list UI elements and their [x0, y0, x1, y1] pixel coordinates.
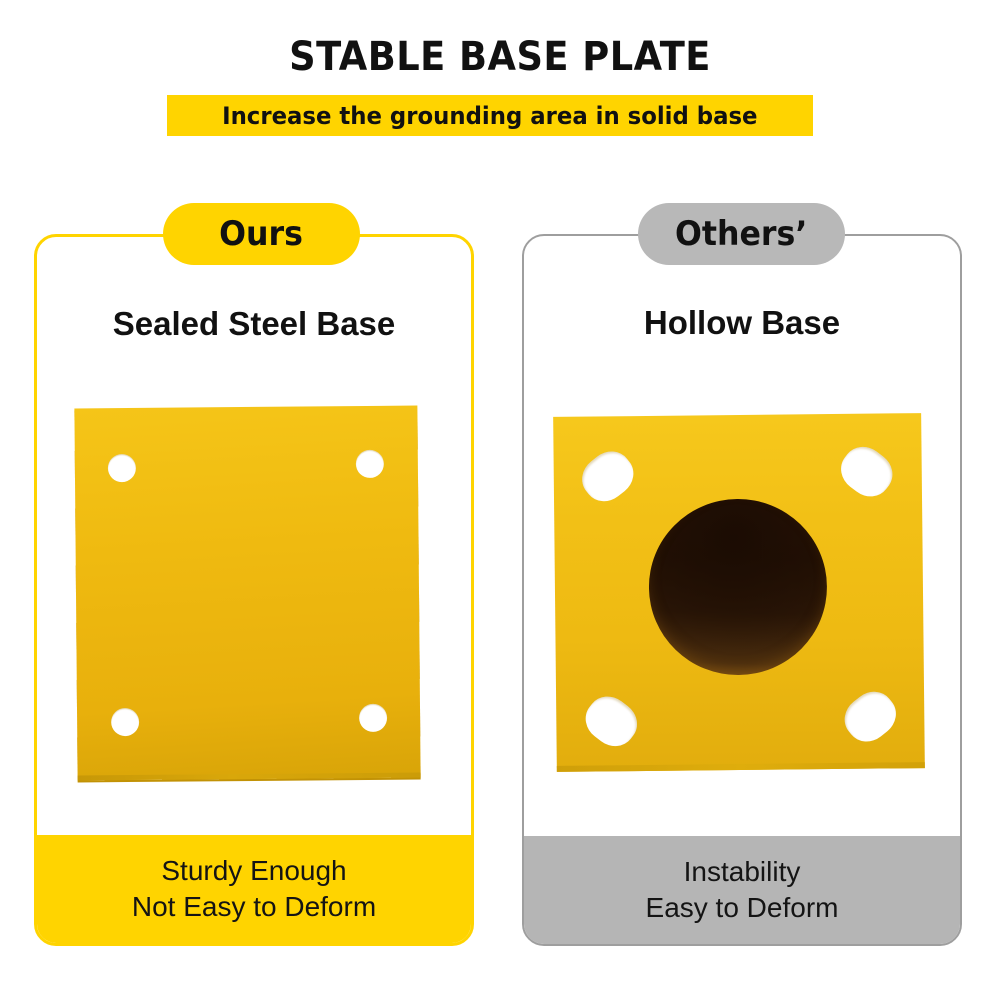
bolt-hole-bottom-left-icon: [111, 708, 139, 736]
solid-base-plate-graphic: [74, 406, 420, 781]
product-image-others: [524, 386, 960, 806]
slot-hole-top-right-icon: [833, 438, 901, 505]
page-title: STABLE BASE PLATE: [40, 34, 960, 80]
slot-hole-bottom-right-icon: [836, 683, 904, 750]
comparison-card-ours: Sealed Steel Base Sturdy Enough Not Easy…: [34, 234, 474, 946]
card-caption-ours: Sturdy Enough Not Easy to Deform: [37, 835, 471, 943]
caption-line-2-ours: Not Easy to Deform: [132, 889, 376, 925]
badge-others-label: Others’: [675, 214, 807, 254]
product-image-ours: [37, 387, 471, 807]
card-caption-others: Instability Easy to Deform: [524, 836, 960, 944]
caption-line-1-ours: Sturdy Enough: [161, 853, 346, 889]
caption-line-2-others: Easy to Deform: [646, 890, 839, 926]
subtitle-text: Increase the grounding area in solid bas…: [222, 102, 757, 130]
hollow-center-opening: [648, 498, 828, 676]
badge-ours-label: Ours: [220, 214, 304, 254]
card-heading-others: Hollow Base: [524, 304, 960, 342]
badge-others: Others’: [638, 203, 845, 265]
bolt-hole-top-right-icon: [356, 450, 384, 478]
hollow-base-plate-graphic: [553, 413, 925, 772]
card-heading-ours: Sealed Steel Base: [37, 305, 471, 343]
caption-line-1-others: Instability: [684, 854, 801, 890]
bolt-hole-top-left-icon: [108, 454, 136, 482]
slot-hole-top-left-icon: [574, 443, 642, 510]
badge-ours: Ours: [163, 203, 360, 265]
subtitle-banner: Increase the grounding area in solid bas…: [167, 95, 813, 136]
comparison-card-others: Hollow Base Instability Easy to Deform: [522, 234, 962, 946]
infographic-root: STABLE BASE PLATE Increase the grounding…: [0, 0, 1000, 1000]
bolt-hole-bottom-right-icon: [359, 704, 387, 732]
slot-hole-bottom-left-icon: [577, 688, 645, 755]
